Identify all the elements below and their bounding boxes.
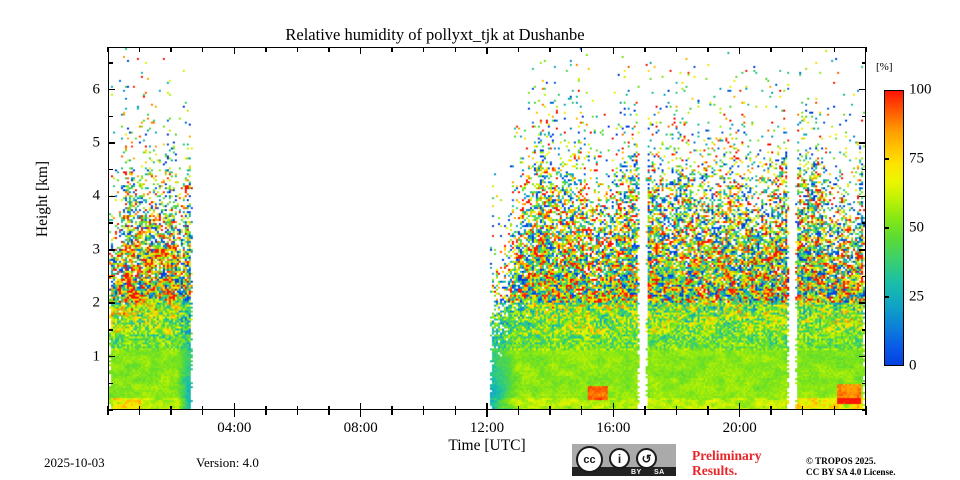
y-tick-mark: [862, 409, 867, 410]
footer-version: Version: 4.0: [196, 455, 259, 471]
x-tick-mark: [202, 410, 203, 415]
x-tick-mark: [676, 410, 677, 415]
y-tick-mark: [859, 196, 866, 198]
y-tick-label: 3: [62, 241, 100, 258]
x-tick-mark-top: [739, 47, 741, 54]
y-tick-mark: [862, 62, 867, 63]
x-tick-mark-top: [581, 47, 582, 52]
x-tick-mark: [234, 403, 236, 410]
figure-root: Relative humidity of pollyxt_tjk at Dush…: [0, 0, 960, 480]
x-tick-label: 20:00: [723, 420, 757, 437]
x-tick-mark: [518, 410, 519, 415]
creative-commons-badge-icon[interactable]: cc i ↺ BY SA: [572, 444, 676, 476]
x-tick-mark: [644, 410, 645, 415]
x-tick-mark-top: [391, 47, 392, 52]
y-tick-mark: [859, 249, 866, 251]
x-tick-mark: [613, 410, 615, 417]
y-tick-mark: [108, 222, 113, 223]
x-tick-mark-top: [139, 47, 140, 52]
x-tick-mark-top: [802, 47, 803, 52]
x-tick-mark-top: [865, 47, 866, 52]
x-tick-mark: [234, 410, 236, 417]
y-tick-mark: [862, 383, 867, 384]
x-tick-label: 16:00: [596, 420, 630, 437]
x-tick-mark: [265, 410, 266, 415]
y-tick-mark: [859, 89, 866, 91]
y-tick-mark: [108, 329, 113, 330]
footer-date: 2025-10-03: [44, 455, 105, 471]
preliminary-line-1: Preliminary: [692, 449, 761, 464]
x-tick-mark-top: [644, 47, 645, 52]
y-tick-mark: [862, 116, 867, 117]
x-tick-mark: [360, 403, 362, 410]
y-tick-mark: [108, 196, 115, 198]
y-axis-title: Height [km]: [34, 119, 52, 279]
colorbar-tick-mark: [884, 296, 889, 298]
y-tick-label: 6: [62, 81, 100, 98]
preliminary-line-2: Results.: [692, 464, 761, 479]
x-tick-mark: [328, 410, 329, 415]
x-tick-mark: [770, 410, 771, 415]
colorbar-tick-label: 75: [909, 151, 924, 168]
x-tick-mark-top: [549, 47, 550, 52]
y-tick-mark: [108, 116, 113, 117]
x-tick-mark-top: [423, 47, 424, 52]
cc-by-icon: i: [609, 448, 630, 469]
copyright-line-1: © TROPOS 2025.: [806, 456, 896, 467]
y-tick-mark: [859, 302, 866, 304]
y-tick-mark: [108, 383, 113, 384]
plot-area: [108, 47, 866, 410]
y-tick-mark: [862, 329, 867, 330]
x-tick-mark-top: [170, 47, 171, 52]
x-tick-mark-top: [486, 47, 488, 54]
colorbar-tick-mark: [884, 227, 889, 229]
page-title: Relative humidity of pollyxt_tjk at Dush…: [0, 25, 870, 45]
x-tick-mark-top: [613, 47, 615, 54]
x-tick-mark: [613, 403, 615, 410]
colorbar-tick-label: 0: [909, 358, 917, 375]
cc-sa-label: SA: [654, 469, 665, 476]
y-tick-label: 1: [62, 348, 100, 365]
cc-sa-icon: ↺: [636, 448, 657, 469]
colorbar-tick-label: 50: [909, 220, 924, 237]
y-tick-label: 5: [62, 135, 100, 152]
x-tick-mark-top: [518, 47, 519, 52]
x-tick-mark: [834, 410, 835, 415]
y-tick-mark: [108, 62, 113, 63]
preliminary-results-notice: Preliminary Results.: [692, 449, 761, 478]
x-tick-mark: [170, 410, 171, 415]
cc-logo-icon: cc: [576, 446, 603, 473]
x-tick-mark: [739, 410, 741, 417]
y-tick-mark: [862, 169, 867, 170]
x-tick-mark: [360, 410, 362, 417]
x-tick-mark: [107, 410, 108, 415]
x-tick-mark-top: [234, 47, 236, 54]
x-tick-mark: [486, 410, 488, 417]
x-tick-mark-top: [297, 47, 298, 52]
colorbar-tick-label: 25: [909, 289, 924, 306]
x-tick-label: 12:00: [470, 420, 504, 437]
y-tick-mark: [859, 356, 866, 358]
x-tick-mark: [391, 410, 392, 415]
y-tick-label: 4: [62, 188, 100, 205]
x-tick-mark-top: [707, 47, 708, 52]
x-tick-label: 08:00: [344, 420, 378, 437]
y-tick-mark: [108, 249, 115, 251]
copyright-notice: © TROPOS 2025. CC BY SA 4.0 License.: [806, 456, 896, 478]
colorbar-unit-label: [%]: [876, 61, 893, 73]
y-tick-label: 2: [62, 295, 100, 312]
x-tick-mark: [139, 410, 140, 415]
y-tick-mark: [108, 356, 115, 358]
x-tick-mark: [581, 410, 582, 415]
y-tick-mark: [862, 276, 867, 277]
cc-by-label: BY: [631, 469, 642, 476]
x-tick-mark-top: [265, 47, 266, 52]
x-tick-mark: [455, 410, 456, 415]
x-tick-mark-top: [360, 47, 362, 54]
colorbar-tick-mark: [884, 158, 889, 160]
x-tick-mark-top: [328, 47, 329, 52]
x-tick-mark: [739, 403, 741, 410]
x-tick-mark-top: [770, 47, 771, 52]
y-tick-mark: [108, 302, 115, 304]
x-tick-mark-top: [107, 47, 108, 52]
x-tick-mark: [423, 410, 424, 415]
x-tick-label: 04:00: [217, 420, 251, 437]
x-tick-mark-top: [455, 47, 456, 52]
copyright-line-2: CC BY SA 4.0 License.: [806, 467, 896, 478]
y-tick-mark: [108, 409, 113, 410]
x-tick-mark: [865, 410, 866, 415]
y-tick-mark: [108, 89, 115, 91]
y-tick-mark: [862, 222, 867, 223]
x-tick-mark: [707, 410, 708, 415]
x-tick-mark: [549, 410, 550, 415]
y-tick-mark: [859, 142, 866, 144]
y-tick-mark: [108, 169, 113, 170]
y-tick-mark: [108, 142, 115, 144]
x-tick-mark: [802, 410, 803, 415]
y-tick-mark: [108, 276, 113, 277]
x-tick-mark: [486, 403, 488, 410]
x-tick-mark-top: [834, 47, 835, 52]
x-tick-mark: [297, 410, 298, 415]
x-tick-mark-top: [202, 47, 203, 52]
humidity-heatmap-canvas: [109, 48, 865, 409]
x-tick-mark-top: [676, 47, 677, 52]
colorbar-tick-label: 100: [909, 82, 932, 99]
